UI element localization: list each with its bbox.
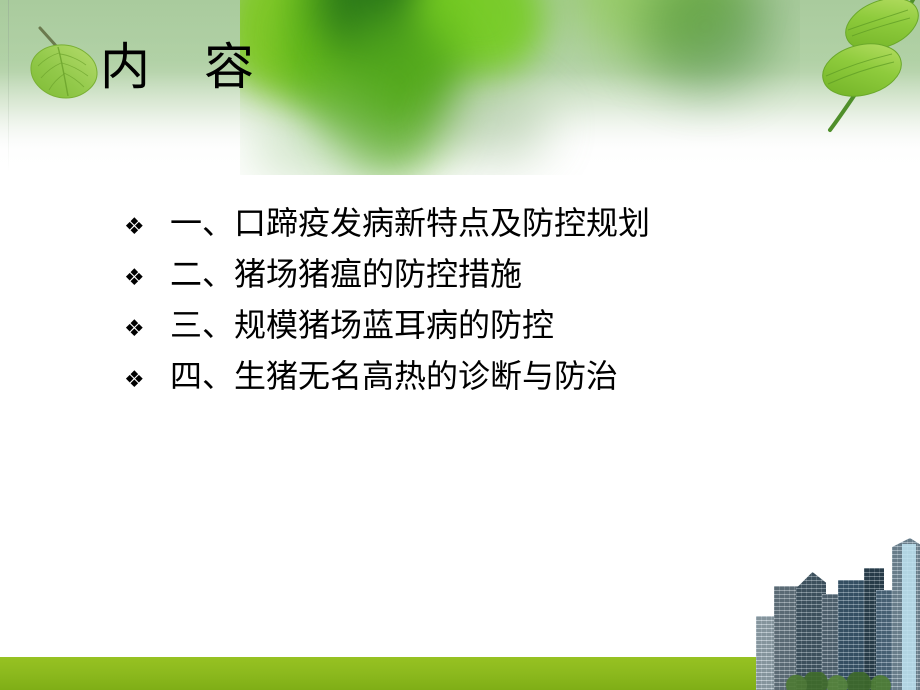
content-list: ❖ 一、口蹄疫发病新特点及防控规划 ❖ 二、猪场猪瘟的防控措施 ❖ 三、规模猪场… xyxy=(124,203,804,407)
foliage-base xyxy=(782,672,902,690)
list-item-label: 三、规模猪场蓝耳病的防控 xyxy=(170,305,554,345)
cityscape-skyline xyxy=(752,530,920,690)
list-item[interactable]: ❖ 一、口蹄疫发病新特点及防控规划 xyxy=(124,203,804,254)
list-item[interactable]: ❖ 四、生猪无名高热的诊断与防治 xyxy=(124,356,804,407)
bullet-diamond-icon: ❖ xyxy=(124,360,170,400)
list-item-label: 四、生猪无名高热的诊断与防治 xyxy=(170,356,618,396)
page-title: 内 容 xyxy=(100,37,256,97)
bullet-diamond-icon: ❖ xyxy=(124,258,170,298)
leaf-icon xyxy=(18,22,104,104)
list-item[interactable]: ❖ 三、规模猪场蓝耳病的防控 xyxy=(124,305,804,356)
bullet-diamond-icon: ❖ xyxy=(124,207,170,247)
list-item[interactable]: ❖ 二、猪场猪瘟的防控措施 xyxy=(124,254,804,305)
list-item-label: 二、猪场猪瘟的防控措施 xyxy=(170,254,522,294)
bullet-diamond-icon: ❖ xyxy=(124,309,170,349)
presentation-slide: 内 容 ❖ 一、口蹄疫发病新特点及防控规划 ❖ 二、猪场猪瘟的防控措施 ❖ 三、… xyxy=(0,0,920,690)
left-edge-rule xyxy=(8,0,9,172)
leaf-branch-icon xyxy=(796,0,920,138)
list-item-label: 一、口蹄疫发病新特点及防控规划 xyxy=(170,203,650,243)
